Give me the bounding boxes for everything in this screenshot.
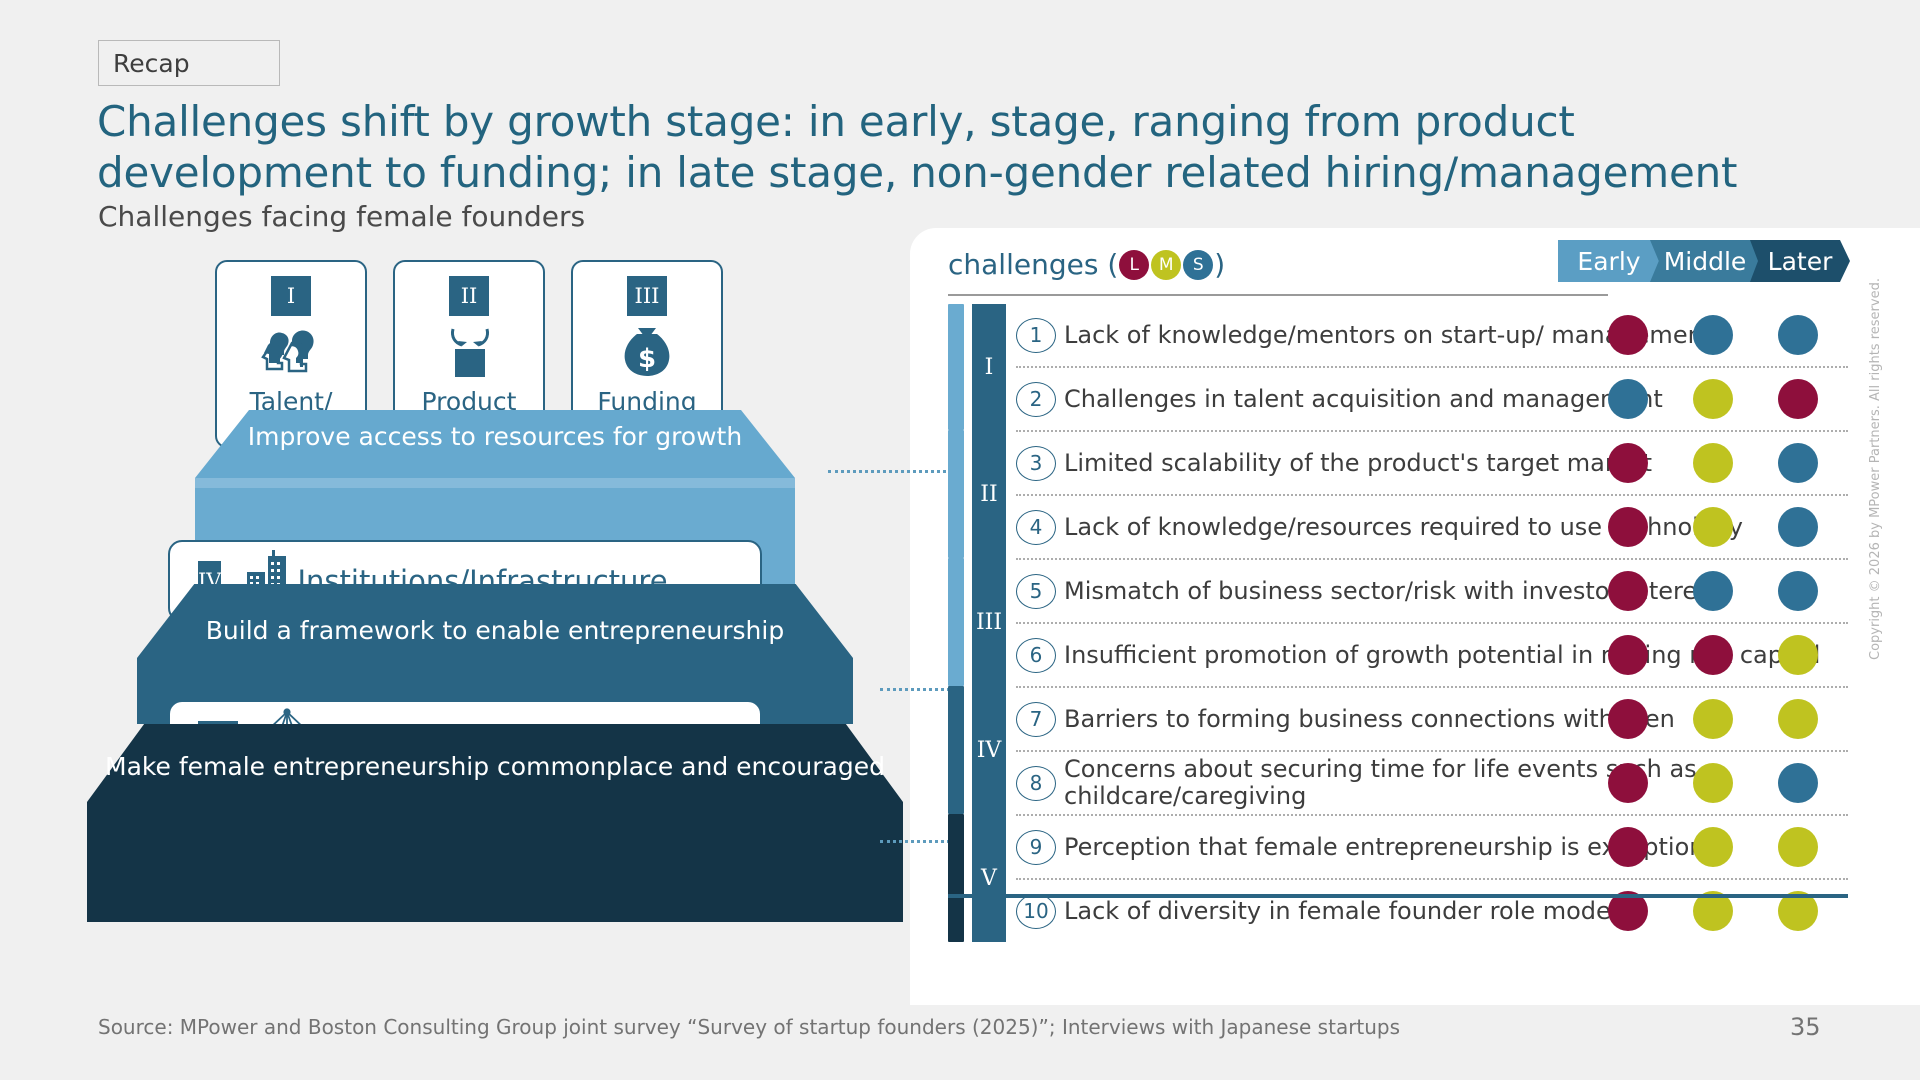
stage-later[interactable]: Later bbox=[1750, 240, 1850, 282]
chart-header: challenges ( L M S ) bbox=[948, 248, 1608, 290]
stage-middle[interactable]: Middle bbox=[1650, 240, 1760, 282]
pyramid-diagram: I Talent/ Skills II bbox=[95, 410, 885, 990]
money-bag-icon: $ bbox=[618, 322, 676, 384]
svg-text:$: $ bbox=[638, 344, 656, 374]
group-rows: 7Barriers to forming business connection… bbox=[1016, 686, 1848, 814]
group-rows: 1Lack of knowledge/mentors on start-up/ … bbox=[1016, 304, 1848, 430]
row-rating-dots bbox=[1598, 624, 1848, 686]
row-number-badge: 7 bbox=[1016, 702, 1056, 737]
row-rating-dots bbox=[1598, 752, 1848, 814]
row-number-badge: 3 bbox=[1016, 446, 1056, 481]
rating-dot-s bbox=[1778, 507, 1818, 547]
card-numeral: II bbox=[449, 276, 489, 316]
connector-line-2 bbox=[880, 688, 950, 691]
recap-label: Recap bbox=[113, 49, 190, 78]
group-stripe bbox=[948, 304, 964, 430]
rating-dot-m bbox=[1778, 635, 1818, 675]
group-stripe bbox=[948, 686, 964, 814]
pyramid-tier-2-label: Build a framework to enable entrepreneur… bbox=[137, 616, 853, 645]
source-note: Source: MPower and Boston Consulting Gro… bbox=[98, 1015, 1400, 1039]
page-title: Challenges shift by growth stage: in ear… bbox=[97, 96, 1857, 198]
chart-title-prefix: challenges ( bbox=[948, 248, 1118, 281]
group-stripe bbox=[948, 430, 964, 558]
table-row[interactable]: 9Perception that female entrepreneurship… bbox=[1016, 816, 1848, 878]
rating-dot-l bbox=[1608, 635, 1648, 675]
rating-dot-l bbox=[1693, 635, 1733, 675]
row-number-badge: 8 bbox=[1016, 766, 1056, 801]
rating-dot-m bbox=[1693, 699, 1733, 739]
row-rating-dots bbox=[1598, 368, 1848, 430]
recap-tag: Recap bbox=[98, 40, 280, 86]
row-rating-dots bbox=[1598, 432, 1848, 494]
rating-dot-s bbox=[1778, 571, 1818, 611]
copyright-note: Copyright © 2026 by MPower Partners. All… bbox=[1868, 278, 1883, 660]
table-row[interactable]: 1Lack of knowledge/mentors on start-up/ … bbox=[1016, 304, 1848, 366]
people-icon bbox=[256, 322, 326, 384]
row-rating-dots bbox=[1598, 304, 1848, 366]
group-stripe bbox=[948, 814, 964, 942]
title-underline bbox=[948, 294, 1608, 296]
chart-title-suffix: ) bbox=[1214, 248, 1225, 281]
rating-dot-s bbox=[1693, 571, 1733, 611]
pyramid-tier-1-divider bbox=[195, 478, 795, 488]
rating-dot-m bbox=[1693, 827, 1733, 867]
group-rows: 9Perception that female entrepreneurship… bbox=[1016, 814, 1848, 942]
rating-dot-m bbox=[1693, 379, 1733, 419]
group-stripe bbox=[948, 558, 964, 686]
chart-title: challenges ( L M S ) bbox=[948, 248, 1608, 281]
group-numeral: V bbox=[972, 814, 1006, 942]
row-number-badge: 5 bbox=[1016, 574, 1056, 609]
product-box-icon bbox=[437, 322, 501, 384]
rating-dot-l bbox=[1608, 443, 1648, 483]
table-body: I1Lack of knowledge/mentors on start-up/… bbox=[948, 304, 1848, 942]
challenge-group: IV7Barriers to forming business connecti… bbox=[948, 686, 1848, 814]
rating-dot-l bbox=[1608, 315, 1648, 355]
group-rows: 5Mismatch of business sector/risk with i… bbox=[1016, 558, 1848, 686]
card-numeral: III bbox=[627, 276, 667, 316]
group-numeral: IV bbox=[972, 686, 1006, 814]
group-numeral: III bbox=[972, 558, 1006, 686]
rating-dot-l bbox=[1608, 571, 1648, 611]
connector-line-1 bbox=[828, 470, 946, 473]
table-row[interactable]: 10Lack of diversity in female founder ro… bbox=[1016, 878, 1848, 942]
challenges-table: challenges ( L M S ) Early Middle Later … bbox=[948, 248, 1848, 908]
rating-dot-s bbox=[1778, 763, 1818, 803]
table-row[interactable]: 7Barriers to forming business connection… bbox=[1016, 688, 1848, 750]
challenge-group: V9Perception that female entrepreneurshi… bbox=[948, 814, 1848, 942]
row-number-badge: 1 bbox=[1016, 318, 1056, 353]
stage-header: Early Middle Later bbox=[1558, 240, 1848, 282]
rating-dot-l bbox=[1778, 379, 1818, 419]
rating-dot-m bbox=[1778, 827, 1818, 867]
rating-dot-s bbox=[1778, 315, 1818, 355]
table-bottom-rule bbox=[948, 894, 1848, 898]
page-subtitle: Challenges facing female founders bbox=[98, 200, 585, 233]
legend-dot-small: S bbox=[1183, 250, 1213, 280]
rating-dot-l bbox=[1608, 763, 1648, 803]
legend-dot-large: L bbox=[1119, 250, 1149, 280]
slide-root: Recap Challenges shift by growth stage: … bbox=[0, 0, 1920, 1080]
rating-dot-s bbox=[1608, 379, 1648, 419]
page-number: 35 bbox=[1790, 1013, 1821, 1041]
table-row[interactable]: 3Limited scalability of the product's ta… bbox=[1016, 432, 1848, 494]
connector-line-3 bbox=[880, 840, 950, 843]
rating-dot-s bbox=[1778, 443, 1818, 483]
rating-dot-l bbox=[1608, 699, 1648, 739]
group-numeral: I bbox=[972, 304, 1006, 430]
row-number-badge: 6 bbox=[1016, 638, 1056, 673]
rating-dot-m bbox=[1693, 507, 1733, 547]
rating-dot-l bbox=[1608, 507, 1648, 547]
rating-dot-m bbox=[1693, 443, 1733, 483]
row-rating-dots bbox=[1598, 496, 1848, 558]
rating-dot-l bbox=[1608, 827, 1648, 867]
row-number-badge: 10 bbox=[1016, 894, 1056, 929]
row-number-badge: 4 bbox=[1016, 510, 1056, 545]
row-number-badge: 9 bbox=[1016, 830, 1056, 865]
pyramid-tier-3-label: Make female entrepreneurship commonplace… bbox=[87, 752, 903, 781]
card-numeral: I bbox=[271, 276, 311, 316]
stage-early[interactable]: Early bbox=[1558, 240, 1660, 282]
challenge-group: III5Mismatch of business sector/risk wit… bbox=[948, 558, 1848, 686]
legend-dot-medium: M bbox=[1151, 250, 1181, 280]
group-rows: 3Limited scalability of the product's ta… bbox=[1016, 430, 1848, 558]
pyramid-tier-3-body bbox=[87, 802, 903, 922]
challenge-group: I1Lack of knowledge/mentors on start-up/… bbox=[948, 304, 1848, 430]
table-row[interactable]: 5Mismatch of business sector/risk with i… bbox=[1016, 560, 1848, 622]
group-numeral: II bbox=[972, 430, 1006, 558]
table-row[interactable]: 2Challenges in talent acquisition and ma… bbox=[1016, 366, 1848, 430]
rating-dot-m bbox=[1693, 763, 1733, 803]
table-row[interactable]: 8Concerns about securing time for life e… bbox=[1016, 750, 1848, 814]
rating-dot-s bbox=[1693, 315, 1733, 355]
table-row[interactable]: 4Lack of knowledge/resources required to… bbox=[1016, 494, 1848, 558]
row-rating-dots bbox=[1598, 816, 1848, 878]
row-rating-dots bbox=[1598, 688, 1848, 750]
pyramid-tier-1-label: Improve access to resources for growth bbox=[195, 422, 795, 451]
challenge-group: II3Limited scalability of the product's … bbox=[948, 430, 1848, 558]
table-row[interactable]: 6Insufficient promotion of growth potent… bbox=[1016, 622, 1848, 686]
row-number-badge: 2 bbox=[1016, 382, 1056, 417]
rating-dot-m bbox=[1778, 699, 1818, 739]
row-rating-dots bbox=[1598, 560, 1848, 622]
row-rating-dots bbox=[1598, 880, 1848, 942]
